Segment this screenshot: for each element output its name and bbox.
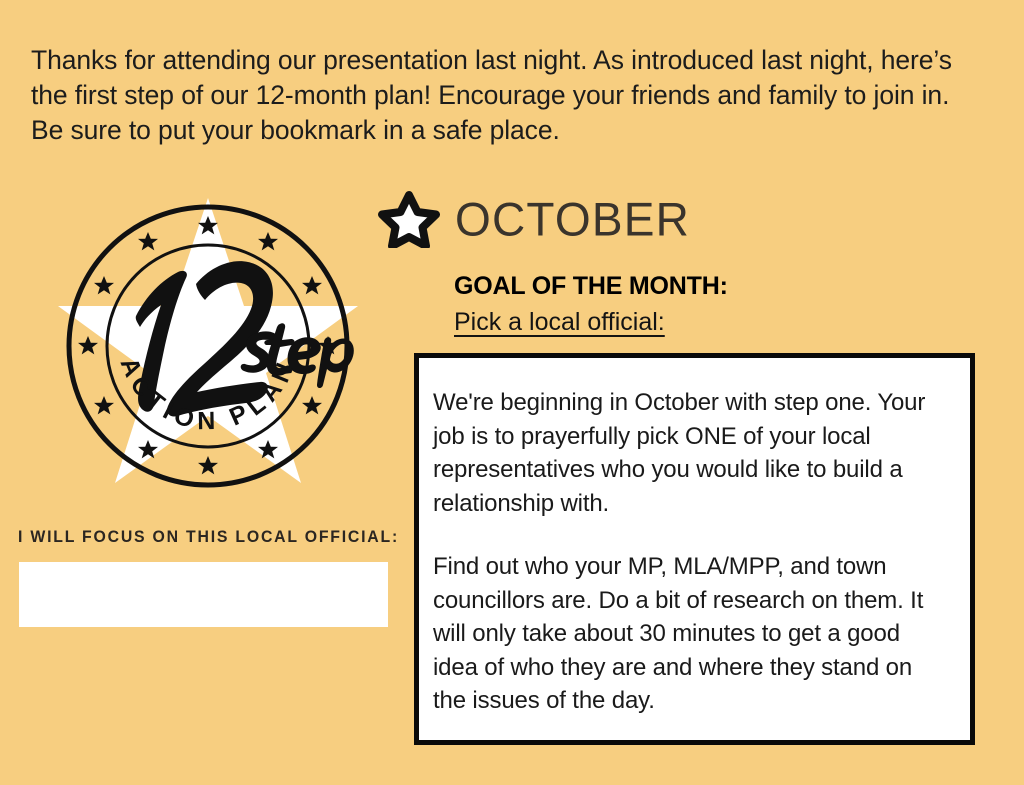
goal-of-the-month-title: GOAL OF THE MONTH: [454,271,728,301]
focus-official-input[interactable] [19,562,388,627]
intro-line-3: Be sure to put your bookmark in a safe p… [31,113,996,148]
goal-subtitle: Pick a local official: [454,307,665,337]
twelve-step-action-plan-logo: ACTION PLAN [58,188,358,503]
focus-field-label: I WILL FOCUS ON THIS LOCAL OFFICIAL: [18,528,399,547]
month-label: OCTOBER [455,195,690,244]
intro-paragraph: Thanks for attending our presentation la… [31,43,996,148]
description-box: We're beginning in October with step one… [414,353,975,745]
intro-line-2: the first step of our 12-month plan! Enc… [31,78,996,113]
star-icon [378,190,440,248]
month-header: OCTOBER [378,190,690,248]
page-root: Thanks for attending our presentation la… [0,0,1024,785]
intro-line-1: Thanks for attending our presentation la… [31,43,996,78]
description-paragraph-1: We're beginning in October with step one… [433,386,950,520]
description-paragraph-2: Find out who your MP, MLA/MPP, and town … [433,550,950,718]
